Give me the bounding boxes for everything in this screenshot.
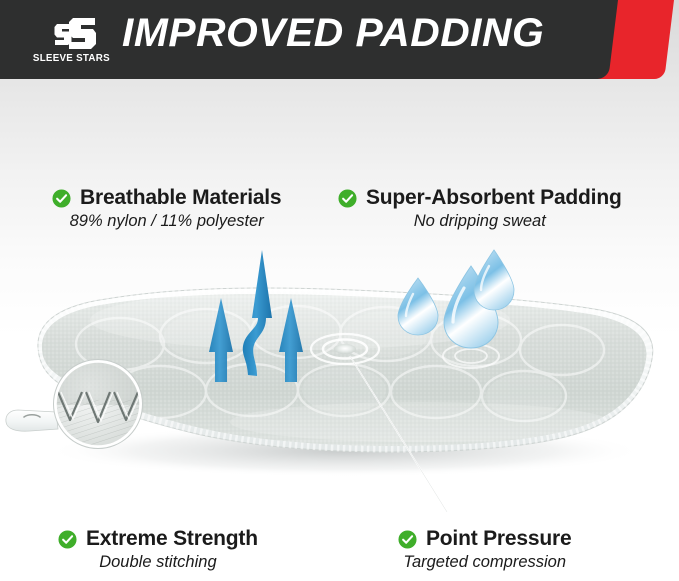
green-check-icon [58, 530, 77, 549]
green-check-icon [338, 189, 357, 208]
feature-subtitle: No dripping sweat [338, 212, 622, 231]
feature-breathable-materials: Breathable Materials 89% nylon / 11% pol… [52, 186, 281, 231]
banner-content: SLEEVE STARS IMPROVED PADDING [0, 0, 620, 79]
feature-subtitle: 89% nylon / 11% polyester [52, 212, 281, 231]
feature-title: Super-Absorbent Padding [366, 186, 622, 210]
feature-heading-row: Super-Absorbent Padding [338, 186, 622, 210]
feature-subtitle: Double stitching [58, 553, 258, 572]
side-tab [6, 410, 58, 431]
green-check-icon [398, 530, 417, 549]
green-check-icon [52, 189, 71, 208]
feature-title: Breathable Materials [80, 186, 281, 210]
page-title: IMPROVED PADDING [122, 11, 544, 56]
product-illustration [0, 232, 679, 512]
feature-heading-row: Breathable Materials [52, 186, 281, 210]
stitching-detail-magnifier [54, 360, 143, 449]
feature-super-absorbent-padding: Super-Absorbent Padding No dripping swea… [338, 186, 622, 231]
feature-heading-row: Point Pressure [398, 527, 571, 551]
header-banner: SLEEVE STARS IMPROVED PADDING [0, 0, 679, 82]
feature-point-pressure: Point Pressure Targeted compression [398, 527, 571, 572]
feature-subtitle: Targeted compression [398, 553, 571, 572]
feature-extreme-strength: Extreme Strength Double stitching [58, 527, 258, 572]
brand-wordmark: SLEEVE STARS [33, 52, 110, 64]
brand-logo: SLEEVE STARS [28, 12, 114, 68]
feature-title: Point Pressure [426, 527, 571, 551]
feature-heading-row: Extreme Strength [58, 527, 258, 551]
infographic-canvas: SLEEVE STARS IMPROVED PADDING [0, 0, 679, 581]
feature-title: Extreme Strength [86, 527, 258, 551]
sleeve-stars-s-monogram-icon [43, 17, 99, 51]
